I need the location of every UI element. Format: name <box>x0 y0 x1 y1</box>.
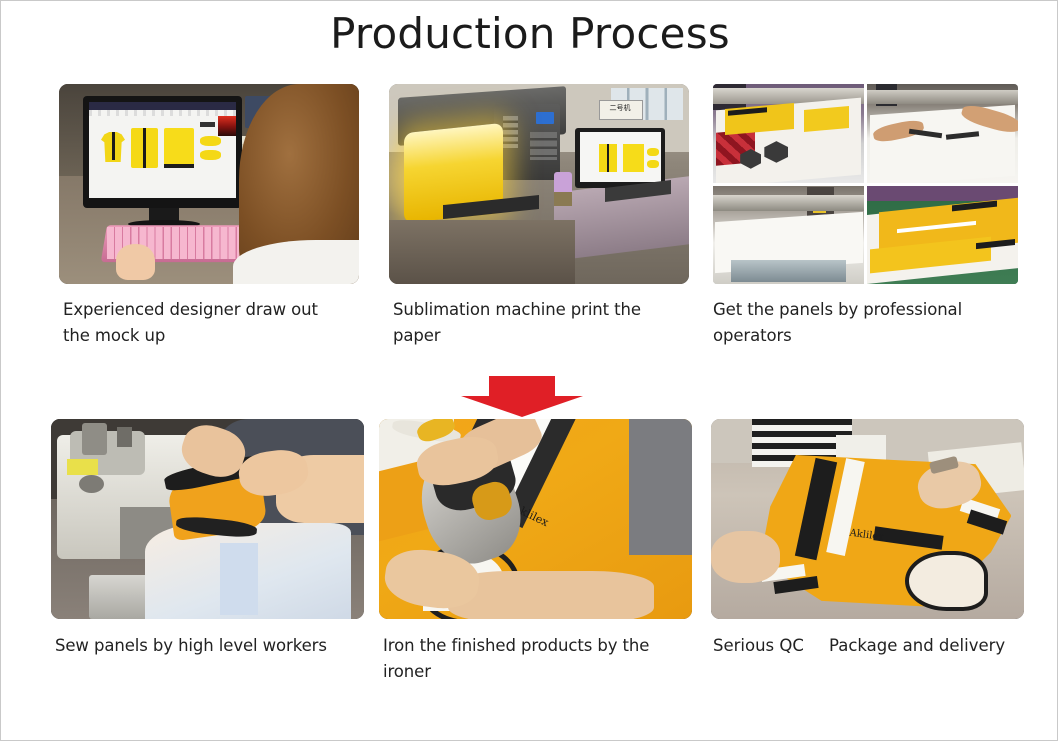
sleeve-artwork-right <box>200 150 221 160</box>
quad-photo-2 <box>867 84 1018 183</box>
step-4-caption: Sew panels by high level workers <box>55 633 327 659</box>
rip-sleeve-left <box>647 148 659 156</box>
ironer-shirt <box>629 419 692 555</box>
jersey-panel-stripe <box>143 128 146 168</box>
designer-hand <box>116 244 155 280</box>
quad-photo-4 <box>867 186 1018 285</box>
printer-buttons <box>530 132 557 160</box>
color-swatch-palette <box>218 116 236 136</box>
inspector-hand-left <box>711 531 780 583</box>
step-4-image-cell <box>51 419 364 619</box>
sleeve-artwork-left <box>200 136 221 146</box>
step-6-caption-secondary: Package and delivery <box>829 633 1005 659</box>
fabric-blue-panel <box>220 543 258 615</box>
folded-sleeve <box>905 551 988 611</box>
step-4-photo <box>51 419 364 619</box>
step-6-photo: Aklilex <box>711 419 1024 619</box>
step-6-caption-primary: Serious QC <box>713 633 804 659</box>
step-2-image-cell: 二号机 <box>389 84 689 284</box>
software-titlebar <box>89 102 236 110</box>
arrow-head <box>461 396 583 417</box>
step-1-caption: Experienced designer draw out the mock u… <box>63 297 373 349</box>
printer-display <box>536 112 554 124</box>
machine-sign-text: 二号机 <box>602 103 638 113</box>
purple-machine-edge <box>867 186 1018 202</box>
step-2-caption: Sublimation machine print the paper <box>393 297 703 349</box>
rip-jersey-back <box>623 144 644 172</box>
step-6-image-cell: Aklilex <box>711 419 1024 619</box>
software-toolbar <box>89 110 236 116</box>
yellow-panel-b <box>804 106 849 132</box>
step-1-image-cell <box>59 84 359 284</box>
step-3-photo-quad <box>713 84 1018 284</box>
jersey-front-stripe <box>112 132 116 160</box>
jersey-back-artwork <box>164 128 194 166</box>
steps-grid: Experienced designer draw out the mock u… <box>1 1 1059 742</box>
press-rollers <box>713 195 864 211</box>
rip-sleeve-right <box>647 160 659 168</box>
machine-knob <box>79 475 104 493</box>
quad-photo-3 <box>713 186 864 285</box>
step-5-caption: Iron the finished products by the ironer <box>383 633 698 685</box>
thread-spool <box>117 427 133 447</box>
jersey-back-stripe <box>164 164 194 168</box>
arrow-shaft <box>489 376 555 398</box>
software-tool-box <box>200 122 215 127</box>
workshop-floor <box>389 220 575 284</box>
step-3-image-cell <box>713 84 1018 284</box>
press-bed <box>731 260 846 282</box>
rip-jersey-front-stripe <box>607 144 610 172</box>
thread-guide <box>82 423 107 455</box>
press-rollers <box>867 90 1018 104</box>
down-arrow-icon <box>461 376 583 416</box>
machine-label <box>67 459 98 475</box>
step-3-caption: Get the panels by professional operators <box>713 297 1023 349</box>
printer-monitor-screen <box>580 132 661 182</box>
production-process-page: Production Process <box>0 0 1058 741</box>
step-5-photo: Aklilex <box>379 419 692 619</box>
step-2-photo: 二号机 <box>389 84 689 284</box>
step-5-image-cell: Aklilex <box>379 419 692 619</box>
step-1-photo <box>59 84 359 284</box>
bottle-holder <box>554 192 572 206</box>
quad-photo-1 <box>713 84 864 183</box>
